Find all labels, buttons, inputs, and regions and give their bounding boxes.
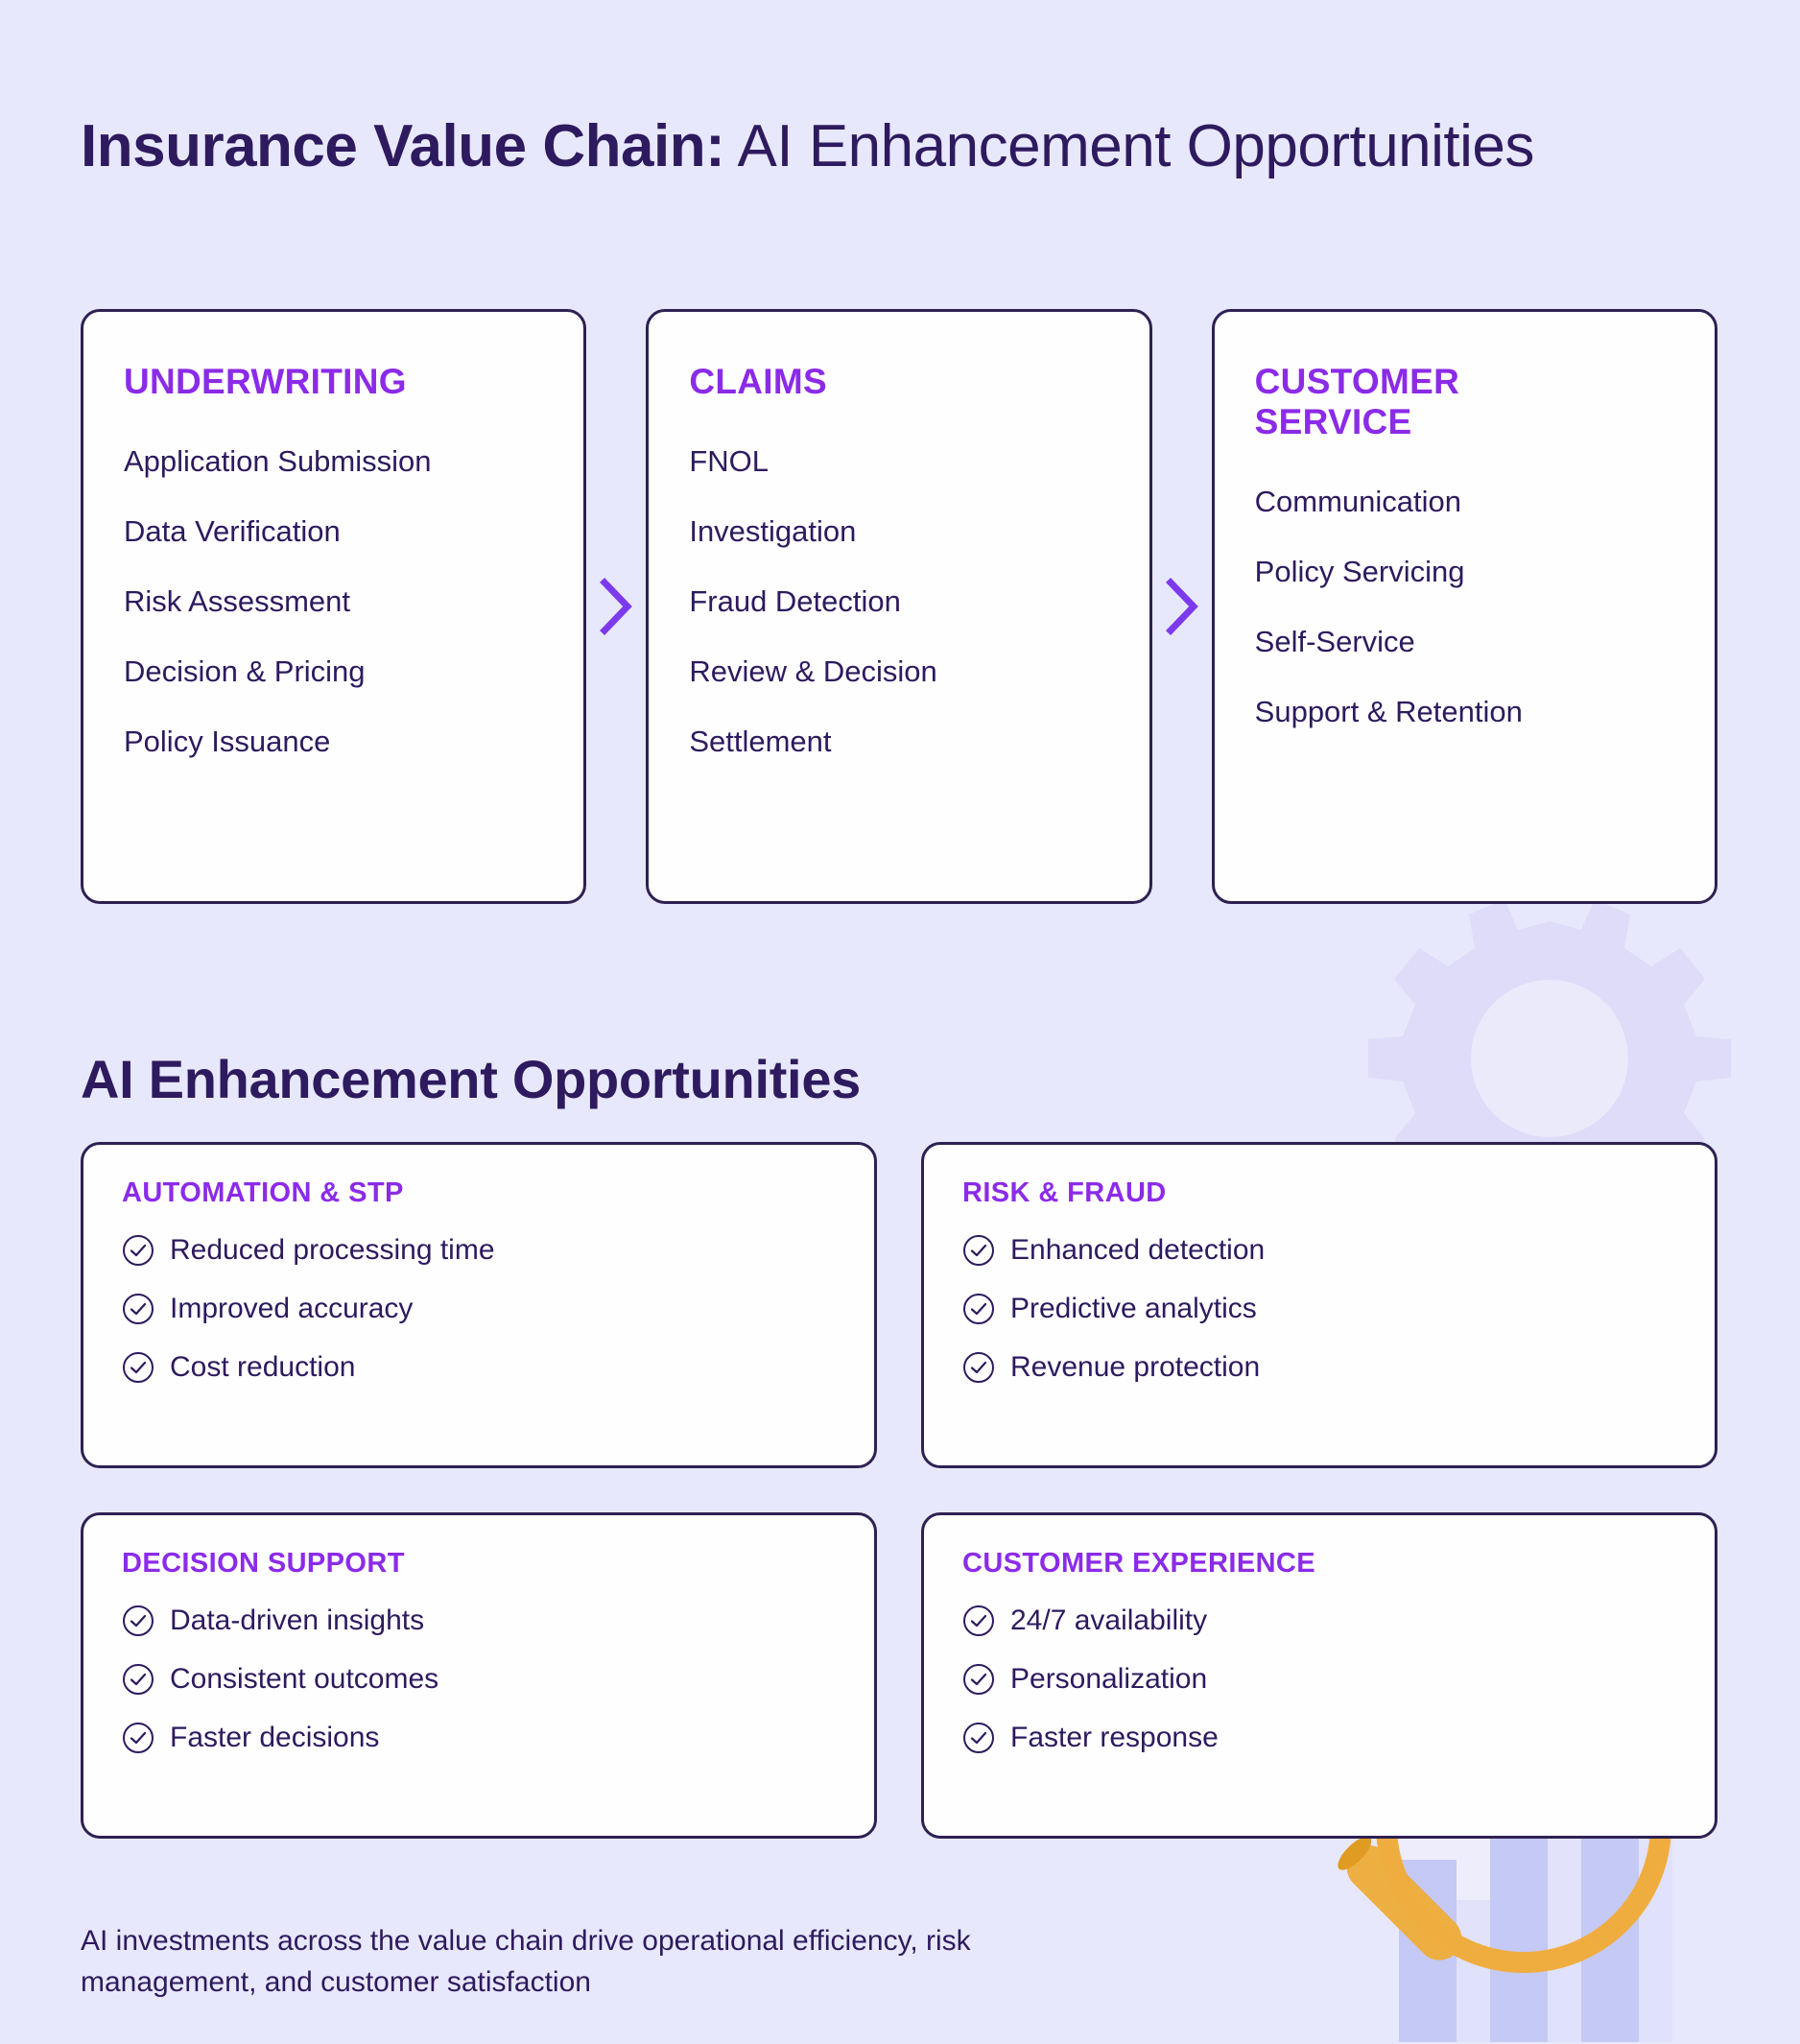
benefit-card-decision-support[interactable]: DECISION SUPPORT Data-driven insights Co…	[81, 1512, 877, 1839]
stage-item: Policy Servicing	[1255, 557, 1674, 586]
stage-item: Settlement	[689, 726, 1108, 756]
benefit-item-label: Consistent outcomes	[170, 1665, 438, 1694]
check-circle-icon	[122, 1351, 154, 1384]
check-circle-icon	[962, 1722, 995, 1754]
benefit-item-label: Personalization	[1010, 1665, 1207, 1694]
benefit-card-title: RISK & FRAUD	[962, 1177, 1676, 1209]
benefit-item-list: Enhanced detection Predictive analytics …	[962, 1234, 1676, 1384]
benefit-item: Predictive analytics	[962, 1293, 1676, 1325]
benefit-item: 24/7 availability	[962, 1604, 1676, 1637]
benefit-card-title: DECISION SUPPORT	[122, 1548, 836, 1580]
benefit-card-automation-stp[interactable]: AUTOMATION & STP Reduced processing time…	[81, 1142, 877, 1468]
stage-item: Self-Service	[1255, 627, 1674, 656]
page-title-strong: Insurance Value Chain:	[81, 113, 724, 179]
benefit-item-label: Enhanced detection	[1010, 1236, 1265, 1265]
check-circle-icon	[962, 1604, 995, 1637]
benefit-card-title: AUTOMATION & STP	[122, 1177, 836, 1209]
stage-item: Data Verification	[124, 516, 543, 546]
check-circle-icon	[962, 1234, 995, 1267]
stage-item: Decision & Pricing	[124, 656, 543, 686]
chevron-right-icon-1	[586, 309, 646, 904]
benefit-item: Improved accuracy	[122, 1293, 836, 1325]
benefit-card-customer-experience[interactable]: CUSTOMER EXPERIENCE 24/7 availability Pe…	[921, 1512, 1717, 1839]
stage-title: CLAIMS	[689, 362, 1108, 402]
check-circle-icon	[962, 1351, 995, 1384]
check-circle-icon	[122, 1722, 154, 1754]
stage-item-list: FNOL Investigation Fraud Detection Revie…	[689, 446, 1108, 756]
stage-item: Support & Retention	[1255, 697, 1674, 726]
benefit-item-label: Reduced processing time	[170, 1236, 495, 1265]
benefit-card-title: CUSTOMER EXPERIENCE	[962, 1548, 1676, 1580]
stage-item-list: Communication Policy Servicing Self-Serv…	[1255, 487, 1674, 726]
benefit-item-label: Cost reduction	[170, 1353, 355, 1382]
benefit-item-label: Data-driven insights	[170, 1606, 424, 1635]
benefit-item: Reduced processing time	[122, 1234, 836, 1267]
benefit-item-label: 24/7 availability	[1010, 1606, 1207, 1635]
footer-caption: AI investments across the value chain dr…	[81, 1921, 1069, 2003]
check-circle-icon	[122, 1234, 154, 1267]
value-chain-row: UNDERWRITING Application Submission Data…	[81, 309, 1717, 904]
check-circle-icon	[962, 1663, 995, 1696]
benefit-item: Cost reduction	[122, 1351, 836, 1384]
check-circle-icon	[122, 1663, 154, 1696]
check-circle-icon	[122, 1604, 154, 1637]
benefit-item-list: Data-driven insights Consistent outcomes…	[122, 1604, 836, 1754]
benefit-item: Faster response	[962, 1722, 1676, 1754]
benefit-item-label: Revenue protection	[1010, 1353, 1260, 1382]
benefit-item: Consistent outcomes	[122, 1663, 836, 1696]
benefit-item: Faster decisions	[122, 1722, 836, 1754]
stage-card-claims[interactable]: CLAIMS FNOL Investigation Fraud Detectio…	[646, 309, 1151, 904]
stage-item: FNOL	[689, 446, 1108, 476]
stage-item: Fraud Detection	[689, 586, 1108, 616]
benefit-item-label: Faster decisions	[170, 1723, 379, 1752]
benefit-item-label: Improved accuracy	[170, 1295, 413, 1323]
benefit-item-label: Faster response	[1010, 1723, 1219, 1752]
stage-item: Policy Issuance	[124, 726, 543, 756]
stage-title: UNDERWRITING	[124, 362, 543, 402]
opportunities-grid: AUTOMATION & STP Reduced processing time…	[81, 1142, 1717, 1839]
stage-card-underwriting[interactable]: UNDERWRITING Application Submission Data…	[81, 309, 586, 904]
check-circle-icon	[122, 1293, 154, 1325]
stage-card-customer-service[interactable]: CUSTOMER SERVICE Communication Policy Se…	[1212, 309, 1717, 904]
benefit-item: Revenue protection	[962, 1351, 1676, 1384]
stage-item-list: Application Submission Data Verification…	[124, 446, 543, 756]
stage-title: CUSTOMER SERVICE	[1255, 362, 1674, 442]
section-heading-opportunities: AI Enhancement Opportunities	[81, 1048, 861, 1110]
stage-item: Review & Decision	[689, 656, 1108, 686]
page-title-rest: AI Enhancement Opportunities	[724, 113, 1534, 179]
benefit-item-list: 24/7 availability Personalization Faster…	[962, 1604, 1676, 1754]
stage-item: Risk Assessment	[124, 586, 543, 616]
page-title: Insurance Value Chain: AI Enhancement Op…	[81, 115, 1616, 179]
stage-item: Application Submission	[124, 446, 543, 476]
benefit-item-label: Predictive analytics	[1010, 1295, 1257, 1323]
chevron-right-icon-2	[1152, 309, 1212, 904]
stage-item: Investigation	[689, 516, 1108, 546]
check-circle-icon	[962, 1293, 995, 1325]
benefit-item: Enhanced detection	[962, 1234, 1676, 1267]
benefit-item-list: Reduced processing time Improved accurac…	[122, 1234, 836, 1384]
benefit-item: Personalization	[962, 1663, 1676, 1696]
stage-item: Communication	[1255, 487, 1674, 516]
infographic-page: Insurance Value Chain: AI Enhancement Op…	[0, 0, 1800, 2044]
benefit-card-risk-fraud[interactable]: RISK & FRAUD Enhanced detection Predicti…	[921, 1142, 1717, 1468]
benefit-item: Data-driven insights	[122, 1604, 836, 1637]
